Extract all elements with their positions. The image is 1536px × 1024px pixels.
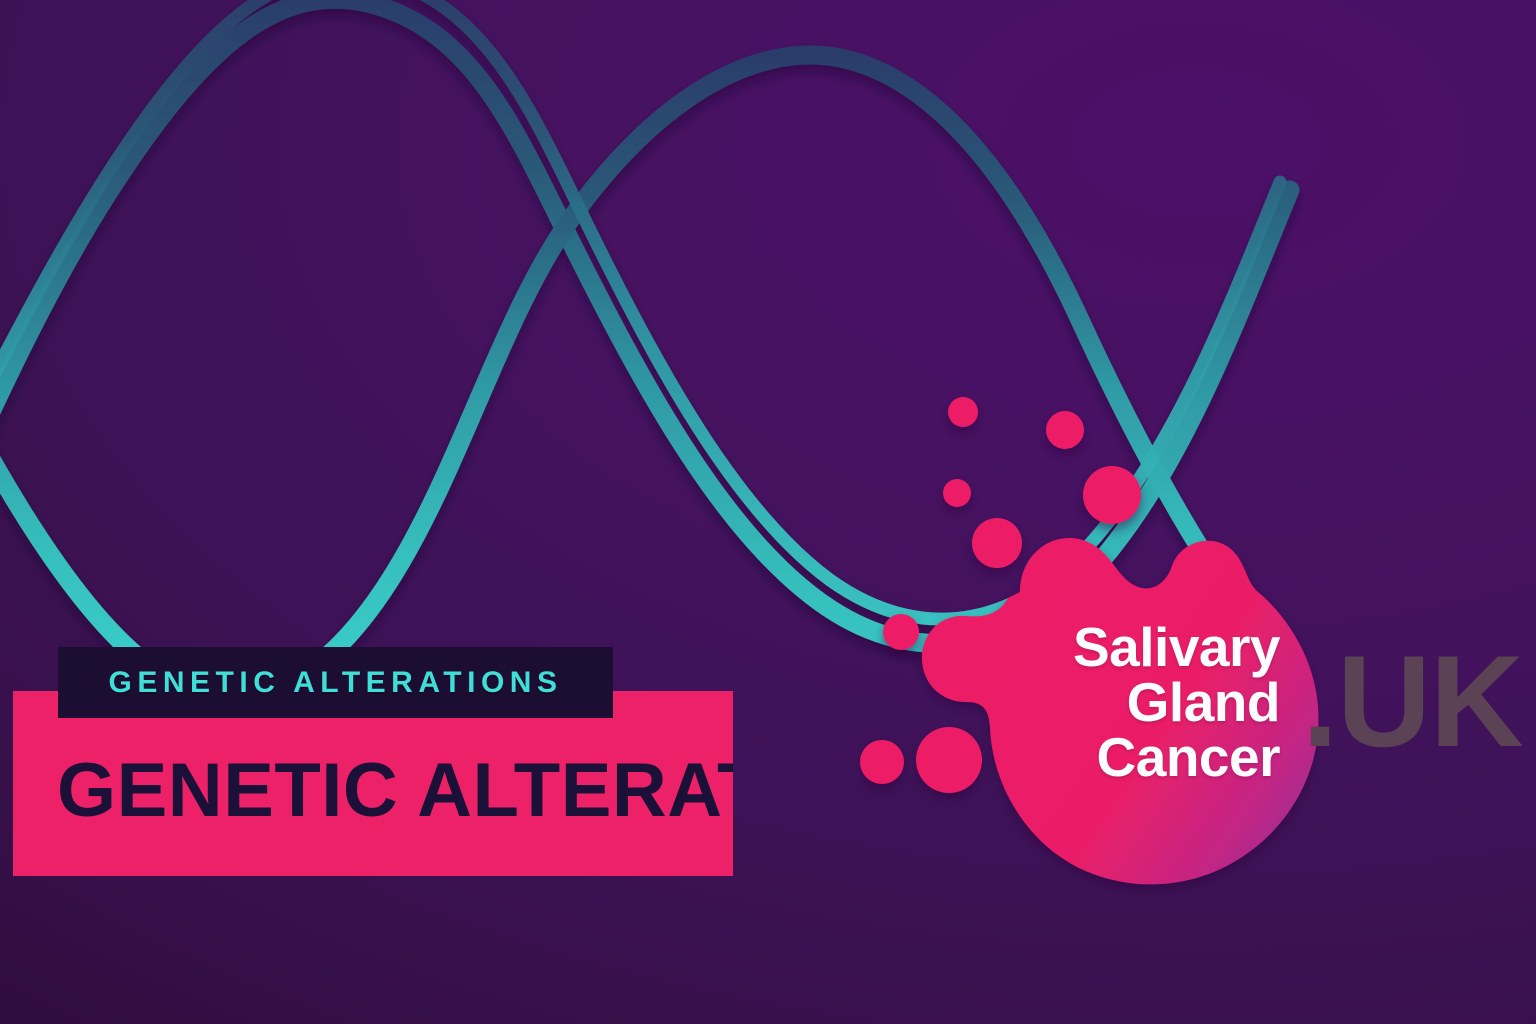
eyebrow-label: GENETIC ALTERATIONS [58,647,613,718]
logo-title: Salivary Gland Cancer [860,620,1280,785]
uk-domain-mark: .UK [1302,636,1523,766]
page-title: GENETIC ALTERATIONS [57,753,733,829]
salivary-gland-cancer-logo[interactable]: Salivary Gland Cancer [860,370,1320,910]
headline-clip: GENETIC ALTERATIONS [13,691,733,876]
promo-banner: Salivary Gland Cancer .UK GENETIC ALTERA… [0,0,1536,1024]
logo-title-line-1: Salivary [860,620,1280,675]
logo-title-line-2: Gland [860,675,1280,730]
eyebrow-bar: GENETIC ALTERATIONS [58,647,613,718]
logo-title-line-3: Cancer [860,730,1280,785]
